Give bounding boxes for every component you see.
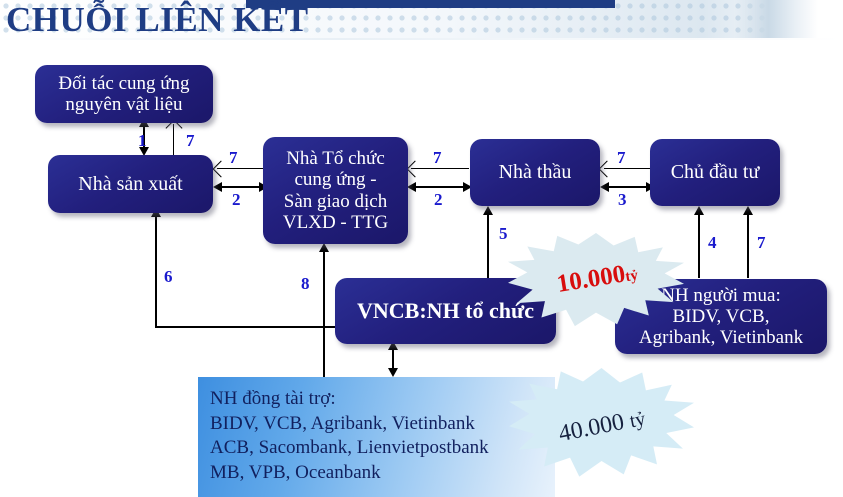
flow-label-6: 6 bbox=[164, 267, 173, 287]
node-cofinance-line-1: NH đồng tài trợ: bbox=[210, 387, 555, 412]
arrowhead-up bbox=[319, 243, 329, 252]
connector-cofinance-organizer-8 bbox=[323, 251, 325, 379]
flow-label-5: 5 bbox=[499, 224, 508, 244]
arrowhead-down bbox=[388, 368, 398, 377]
flow-label-7-investor-contractor: 7 bbox=[617, 148, 626, 168]
callout-amount-40000: 40.000 tỷ bbox=[509, 368, 694, 480]
arrowhead-up bbox=[483, 206, 493, 215]
arrowhead-left bbox=[600, 182, 609, 192]
flow-label-1: 1 bbox=[138, 131, 147, 151]
flow-label-7-contractor-organizer: 7 bbox=[433, 148, 442, 168]
connector-contractor-organizer-2 bbox=[414, 186, 468, 188]
flow-label-7-buyer-investor: 7 bbox=[757, 233, 766, 253]
connector-vncb-contractor-5 bbox=[487, 214, 489, 280]
arrowhead-thin-left bbox=[599, 161, 616, 178]
node-supplier-line-2: nguyên vật liệu bbox=[52, 94, 195, 115]
arrowhead-up bbox=[694, 206, 704, 215]
node-contractor[interactable]: Nhà thầu bbox=[470, 139, 600, 206]
flow-label-7-organizer-manufacturer: 7 bbox=[229, 148, 238, 168]
arrowhead-up bbox=[743, 206, 753, 215]
node-organizer-line-2: cung ứng - bbox=[277, 169, 394, 190]
node-organizer-line-4: VLXD - TTG bbox=[277, 212, 394, 233]
flow-label-8: 8 bbox=[301, 274, 310, 294]
node-investor[interactable]: Chủ đầu tư bbox=[650, 139, 780, 206]
node-supplier[interactable]: Đối tác cung ứng nguyên vật liệu bbox=[35, 65, 213, 123]
slide-canvas: CHUỖI LIÊN KẾT 1 7 7 2 7 bbox=[0, 0, 843, 497]
node-organizer-line-3: Sàn giao dịch bbox=[277, 191, 394, 212]
page-title: CHUỖI LIÊN KẾT bbox=[6, 0, 309, 42]
connector-investor-contractor-3 bbox=[607, 186, 651, 188]
connector-buyer-investor-7 bbox=[747, 214, 749, 278]
node-manufacturer[interactable]: Nhà sản xuất bbox=[48, 155, 213, 213]
flow-label-2-organizer-manufacturer: 2 bbox=[232, 190, 241, 210]
node-investor-label: Chủ đầu tư bbox=[665, 161, 766, 183]
connector-vncb-manufacturer-6-horizontal bbox=[155, 326, 337, 328]
node-cofinance-banks[interactable]: NH đồng tài trợ: BIDV, VCB, Agribank, Vi… bbox=[198, 377, 555, 497]
arrowhead-left bbox=[213, 182, 222, 192]
connector-vncb-manufacturer-6-vertical bbox=[155, 216, 157, 328]
arrowhead-left bbox=[407, 182, 416, 192]
node-buyer-banks-line-3: Agribank, Vietinbank bbox=[633, 327, 809, 348]
node-manufacturer-label: Nhà sản xuất bbox=[72, 173, 188, 195]
connector-buyer-investor-4 bbox=[698, 214, 700, 278]
node-contractor-label: Nhà thầu bbox=[493, 161, 578, 183]
node-cofinance-line-4: MB, VPB, Oceanbank bbox=[210, 461, 555, 486]
node-supplier-line-1: Đối tác cung ứng bbox=[52, 73, 195, 94]
node-organizer-line-1: Nhà Tổ chức bbox=[277, 148, 394, 169]
node-cofinance-line-2: BIDV, VCB, Agribank, Vietinbank bbox=[210, 412, 555, 437]
arrowhead-thin-left bbox=[213, 161, 230, 178]
header-sheen bbox=[735, 0, 818, 38]
node-organizer[interactable]: Nhà Tổ chức cung ứng - Sàn giao dịch VLX… bbox=[263, 137, 408, 244]
node-cofinance-line-3: ACB, Sacombank, Lienvietpostbank bbox=[210, 436, 555, 461]
flow-label-3-investor-contractor: 3 bbox=[618, 190, 627, 210]
arrowhead-thin-left bbox=[407, 161, 424, 178]
flow-label-7-supplier: 7 bbox=[186, 131, 195, 151]
callout-amount-10000: 10.000tỷ bbox=[508, 233, 684, 329]
connector-organizer-manufacturer-2 bbox=[220, 186, 264, 188]
flow-label-4: 4 bbox=[708, 233, 717, 253]
flow-label-2-contractor-organizer: 2 bbox=[434, 190, 443, 210]
